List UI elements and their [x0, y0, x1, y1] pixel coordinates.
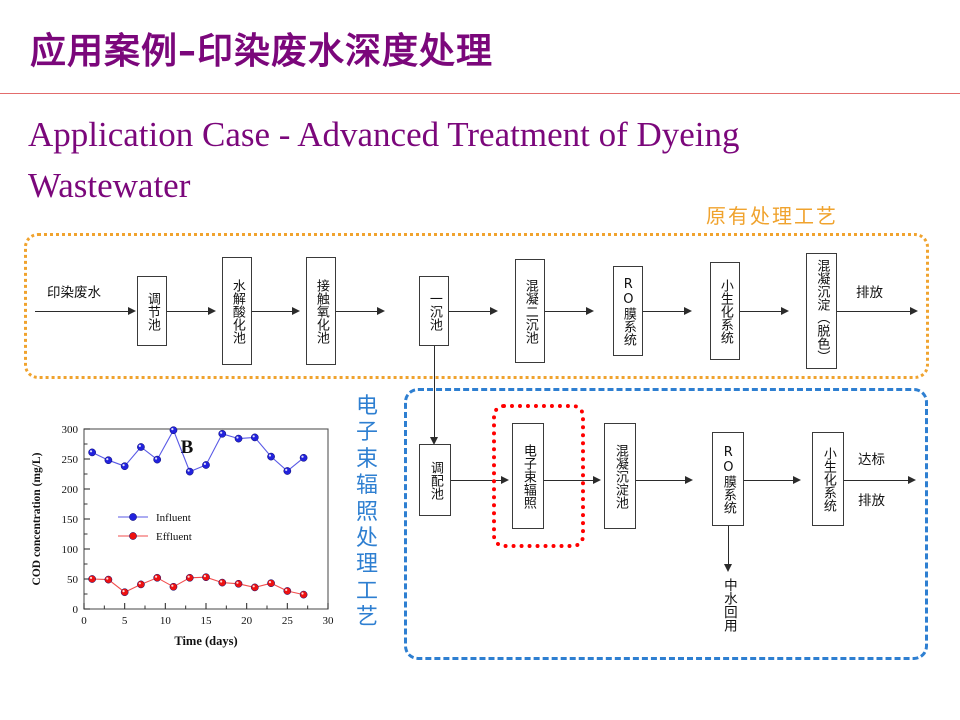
process-box-yichenchi[interactable]: 一沉池 [419, 276, 449, 346]
page-title-chinese: 应用案例–印染废水深度处理 [30, 22, 493, 74]
chart-point-effluent [186, 574, 193, 581]
top-flow-inlet-label: 印染废水 [47, 281, 101, 301]
arrowhead-outlet-top [910, 307, 918, 315]
chart-point-influent [170, 427, 177, 434]
arrowhead-b3-b4 [685, 476, 693, 484]
y-tick-label: 300 [62, 424, 79, 436]
page-title-english: Application Case - Advanced Treatment of… [28, 110, 888, 212]
y-tick-label: 0 [73, 604, 79, 616]
chart-point-highlight [204, 575, 206, 577]
x-tick-label: 10 [160, 615, 172, 627]
chart-point-effluent [235, 580, 242, 587]
legend-label: Influent [156, 512, 191, 524]
process-box-label: 小生化系统 [718, 279, 732, 344]
process-box-jiechuyanghuachi[interactable]: 接触氧化池 [306, 257, 336, 365]
zone-label-char: 照 [351, 500, 383, 526]
legend-label: Effluent [156, 531, 192, 543]
connector-5-6 [545, 311, 588, 312]
chart-point-effluent [300, 591, 307, 598]
zone-label-char: 艺 [351, 605, 383, 631]
connector-top-to-bottom [434, 346, 435, 439]
chart-point-influent [219, 430, 226, 437]
arrowhead-4-5 [490, 307, 498, 315]
y-tick-label: 250 [62, 454, 79, 466]
x-tick-label: 5 [122, 615, 128, 627]
highlight-box-electron-beam [492, 404, 585, 548]
zone-label-ebeam-process: 电 子 束 辐 照 处 理 工 艺 [351, 394, 383, 632]
y-tick-label: 200 [62, 484, 79, 496]
legend-marker [129, 532, 136, 539]
zone-label-original-process: 原有处理工艺 [706, 200, 838, 229]
connector-b4-branch [728, 526, 729, 566]
chart-ylabel: COD concentration (mg/L) [31, 452, 43, 585]
connector-outlet-bottom [844, 480, 910, 481]
chart-point-highlight [139, 445, 141, 447]
chart-point-highlight [171, 428, 173, 430]
process-box-shuijiesuanhuachi[interactable]: 水解酸化池 [222, 257, 252, 365]
chart-point-influent [105, 457, 112, 464]
arrowhead-5-6 [586, 307, 594, 315]
x-tick-label: 15 [201, 615, 213, 627]
chart-point-highlight [188, 576, 190, 578]
process-box-tiaojiechi[interactable]: 调节池 [137, 276, 167, 346]
arrowhead-1-2 [208, 307, 216, 315]
zone-label-char: 辐 [351, 473, 383, 499]
x-tick-label: 25 [282, 615, 294, 627]
chart-point-effluent [137, 581, 144, 588]
arrowhead-b2-b3 [593, 476, 601, 484]
chart-point-highlight [253, 585, 255, 587]
connector-1-2 [167, 311, 210, 312]
chart-point-highlight [171, 585, 173, 587]
connector-2-3 [252, 311, 294, 312]
process-box-label: 调配池 [428, 461, 442, 500]
process-box-ro-membrane-system-bottom[interactable]: RO膜系统 [712, 432, 744, 526]
chart-point-effluent [202, 574, 209, 581]
legend-marker [129, 513, 136, 520]
chart-xlabel: Time (days) [174, 634, 237, 648]
arrowhead-b4-b5 [793, 476, 801, 484]
chart-point-effluent [121, 589, 128, 596]
connector-7-8 [740, 311, 783, 312]
process-box-label: 调节池 [145, 292, 159, 331]
slide-canvas: 应用案例–印染废水深度处理 Application Case - Advance… [0, 0, 960, 720]
chart-point-effluent [219, 579, 226, 586]
arrowhead-inlet [128, 307, 136, 315]
chart-point-effluent [154, 574, 161, 581]
chart-point-influent [137, 443, 144, 450]
chart-point-highlight [139, 582, 141, 584]
y-tick-label: 50 [67, 574, 79, 586]
chart-point-highlight [188, 469, 190, 471]
header-divider [0, 93, 960, 94]
chart-point-influent [121, 463, 128, 470]
process-box-hunningchendian-decolor[interactable]: 混凝沉淀（脱色） [806, 253, 837, 369]
process-box-label: 一沉池 [427, 292, 441, 331]
chart-point-effluent [251, 584, 258, 591]
bottom-flow-outlet-label-top: 达标 [858, 448, 885, 468]
chart-point-highlight [122, 590, 124, 592]
process-box-label: 小生化系统 [821, 447, 835, 512]
x-tick-label: 0 [81, 615, 87, 627]
process-box-label: 接触氧化池 [314, 279, 328, 344]
chart-point-influent [154, 456, 161, 463]
process-box-ro-membrane-system[interactable]: RO膜系统 [613, 266, 643, 356]
process-box-label: 混凝沉淀（脱色） [815, 259, 829, 363]
zone-label-char: 子 [351, 420, 383, 446]
process-box-tiaopeichi[interactable]: 调配池 [419, 444, 451, 516]
zone-label-char: 理 [351, 552, 383, 578]
chart-point-effluent [267, 580, 274, 587]
process-box-xiaoshenghuaxitong-bottom[interactable]: 小生化系统 [812, 432, 844, 526]
chart-svg: 050100150200250300051015202530Time (days… [22, 413, 340, 659]
chart-plot-frame [84, 429, 328, 609]
bottom-flow-outlet-label-bottom: 排放 [858, 489, 885, 509]
chart-point-highlight [220, 432, 222, 434]
connector-6-7 [643, 311, 686, 312]
arrowhead-outlet-bottom [908, 476, 916, 484]
zone-label-char: 束 [351, 447, 383, 473]
chart-point-influent [89, 449, 96, 456]
process-box-label: 混凝沉淀池 [613, 444, 627, 509]
chart-point-highlight [204, 463, 206, 465]
chart-point-highlight [301, 592, 303, 594]
process-box-label: RO膜系统 [621, 277, 635, 346]
connector-b3-b4 [636, 480, 687, 481]
chart-point-highlight [106, 577, 108, 579]
zone-ebeam-process [404, 388, 928, 660]
chart-point-effluent [105, 576, 112, 583]
chart-point-influent [267, 453, 274, 460]
chart-point-highlight [106, 458, 108, 460]
chart-point-influent [284, 467, 291, 474]
chart-point-highlight [155, 457, 157, 459]
chart-point-highlight [155, 576, 157, 578]
top-flow-outlet-label: 排放 [856, 281, 883, 301]
connector-b4-b5 [744, 480, 795, 481]
zone-label-char: 处 [351, 526, 383, 552]
arrowhead-7-8 [781, 307, 789, 315]
chart-point-highlight [269, 581, 271, 583]
chart-point-influent [202, 461, 209, 468]
chart-point-highlight [285, 469, 287, 471]
zone-label-char: 工 [351, 579, 383, 605]
chart-point-highlight [285, 589, 287, 591]
chart-point-highlight [90, 577, 92, 579]
arrowhead-3-4 [377, 307, 385, 315]
cod-concentration-chart: 050100150200250300051015202530Time (days… [22, 413, 340, 659]
connector-inlet [35, 311, 130, 312]
process-box-hunningchendianchi[interactable]: 混凝沉淀池 [604, 423, 636, 529]
x-tick-label: 30 [323, 615, 335, 627]
chart-point-highlight [90, 450, 92, 452]
chart-point-highlight [236, 436, 238, 438]
arrowhead-b4-branch [724, 564, 732, 572]
x-tick-label: 20 [241, 615, 253, 627]
process-box-label: RO膜系统 [721, 445, 735, 514]
chart-point-influent [251, 434, 258, 441]
chart-point-highlight [301, 456, 303, 458]
connector-3-4 [336, 311, 379, 312]
branch-label-reclaimed-water: 中水回用 [721, 578, 736, 632]
chart-point-influent [186, 468, 193, 475]
connector-outlet-top [837, 311, 912, 312]
zone-label-char: 电 [351, 394, 383, 420]
chart-point-effluent [89, 575, 96, 582]
connector-4-5 [449, 311, 492, 312]
chart-point-highlight [220, 580, 222, 582]
chart-point-highlight [236, 582, 238, 584]
chart-point-highlight [122, 464, 124, 466]
process-box-xiaoshenghuaxitong[interactable]: 小生化系统 [710, 262, 740, 360]
process-box-label: 水解酸化池 [230, 279, 244, 344]
chart-point-highlight [253, 435, 255, 437]
chart-point-effluent [284, 587, 291, 594]
arrowhead-2-3 [292, 307, 300, 315]
process-box-label: 混凝二沉池 [523, 279, 537, 344]
chart-point-effluent [170, 583, 177, 590]
chart-point-influent [235, 435, 242, 442]
process-box-hunningerchenchi[interactable]: 混凝二沉池 [515, 259, 545, 363]
chart-point-highlight [269, 454, 271, 456]
y-tick-label: 150 [62, 514, 79, 526]
arrowhead-6-7 [684, 307, 692, 315]
chart-point-influent [300, 454, 307, 461]
y-tick-label: 100 [62, 544, 79, 556]
